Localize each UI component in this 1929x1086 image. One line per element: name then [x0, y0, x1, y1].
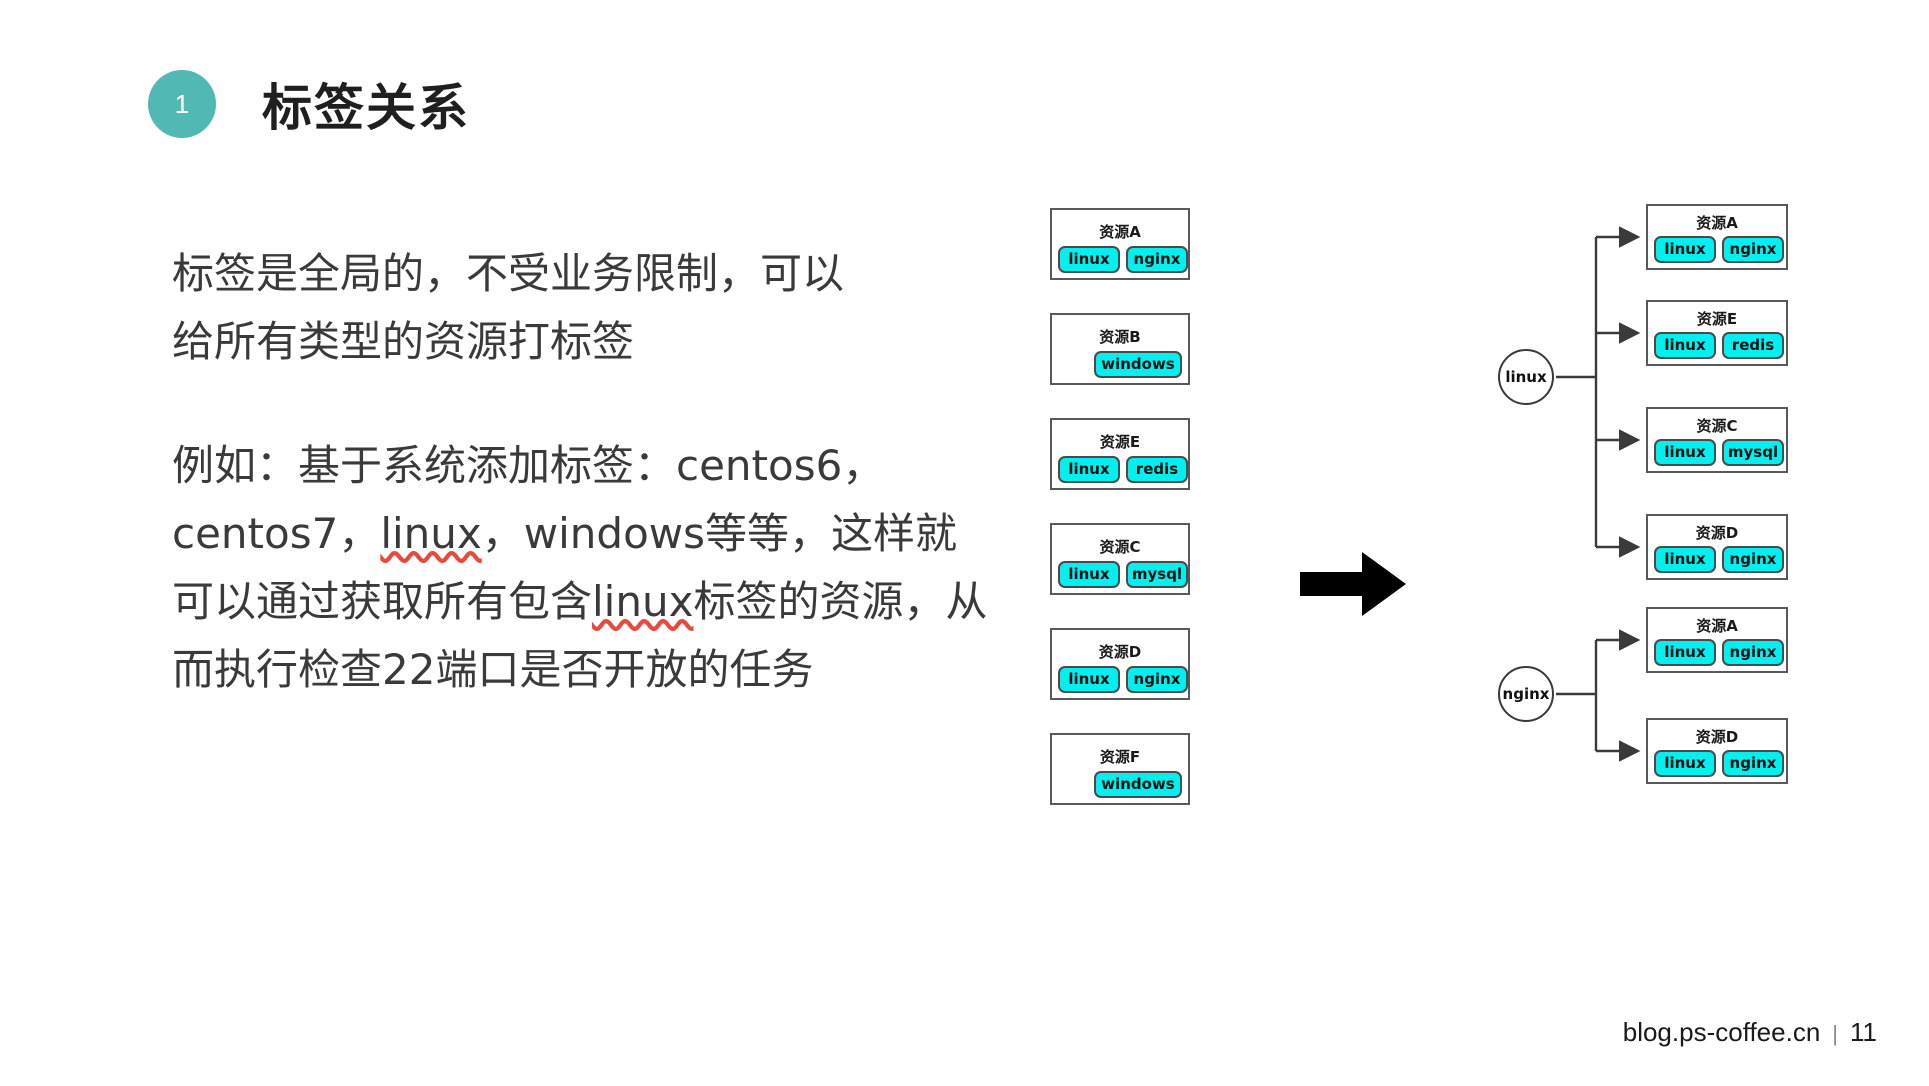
resource-card-title: 资源A	[1052, 225, 1188, 240]
tag-linux: linux	[1654, 332, 1716, 359]
tag-row: linux nginx	[1648, 236, 1786, 268]
tag-linux: linux	[1654, 750, 1716, 777]
spellcheck-word-linux-2: linux	[592, 577, 693, 626]
tag-redis: redis	[1722, 332, 1784, 359]
resource-card-d: 资源D linux nginx	[1050, 628, 1190, 700]
tag-nginx: nginx	[1722, 236, 1784, 263]
tag-node-nginx: nginx	[1498, 666, 1554, 722]
body-copy: 标签是全局的，不受业务限制，可以 给所有类型的资源打标签 例如：基于系统添加标签…	[172, 240, 992, 704]
tree-resource-card-d: 资源D linux nginx	[1646, 514, 1788, 580]
tag-linux: linux	[1058, 666, 1120, 693]
tree-resource-card-e: 资源E linux redis	[1646, 300, 1788, 366]
slide-header: 1 标签关系	[148, 68, 470, 140]
resource-card-title: 资源C	[1052, 540, 1188, 555]
tag-nginx: nginx	[1126, 666, 1188, 693]
tag-linux: linux	[1058, 561, 1120, 588]
tag-nginx: nginx	[1126, 246, 1188, 273]
tree-resource-card-a: 资源A linux nginx	[1646, 204, 1788, 270]
tag-row: windows	[1052, 351, 1188, 383]
tree-resource-card-c: 资源C linux mysql	[1646, 407, 1788, 473]
paragraph-1-line-1: 标签是全局的，不受业务限制，可以	[172, 240, 992, 308]
tag-nginx: nginx	[1722, 750, 1784, 777]
tag-row: linux redis	[1052, 456, 1188, 488]
slide-canvas: 1 标签关系 标签是全局的，不受业务限制，可以 给所有类型的资源打标签 例如：基…	[0, 0, 1929, 1086]
right-arrow-icon	[1300, 548, 1408, 625]
resource-card-f: 资源F windows	[1050, 733, 1190, 805]
tag-row: linux redis	[1648, 332, 1786, 364]
resource-card-a: 资源A linux nginx	[1050, 208, 1190, 280]
resource-card-e: 资源E linux redis	[1050, 418, 1190, 490]
tag-nginx: nginx	[1722, 639, 1784, 666]
resource-card-title: 资源B	[1052, 330, 1188, 345]
page-title: 标签关系	[262, 68, 470, 140]
tag-windows: windows	[1094, 351, 1182, 378]
resource-card-title: 资源C	[1648, 419, 1786, 434]
tag-row: linux nginx	[1052, 246, 1188, 278]
tag-mysql: mysql	[1722, 439, 1784, 466]
resource-card-title: 资源A	[1648, 619, 1786, 634]
tag-row: linux mysql	[1052, 561, 1188, 593]
resource-card-title: 资源F	[1052, 750, 1188, 765]
paragraph-spacer	[172, 376, 992, 432]
footer-separator: |	[1832, 1021, 1838, 1047]
tag-row: linux nginx	[1648, 639, 1786, 671]
tree-resource-card-d-2: 资源D linux nginx	[1646, 718, 1788, 784]
tree-resource-card-a-2: 资源A linux nginx	[1646, 607, 1788, 673]
tag-linux: linux	[1654, 639, 1716, 666]
slide-footer: blog.ps-coffee.cn | 11	[1623, 1017, 1877, 1048]
tag-linux: linux	[1058, 246, 1120, 273]
tag-redis: redis	[1126, 456, 1188, 483]
tag-node-label: nginx	[1503, 685, 1550, 703]
tag-row: linux nginx	[1648, 546, 1786, 578]
resource-card-title: 资源D	[1648, 526, 1786, 541]
resource-card-b: 资源B windows	[1050, 313, 1190, 385]
tag-linux: linux	[1654, 546, 1716, 573]
resource-card-title: 资源D	[1648, 730, 1786, 745]
resource-list-before: 资源A linux nginx 资源B windows 资源E linux re…	[1050, 208, 1190, 838]
tag-row: linux nginx	[1648, 750, 1786, 782]
tag-row: linux mysql	[1648, 439, 1786, 471]
resource-card-c: 资源C linux mysql	[1050, 523, 1190, 595]
tag-linux: linux	[1654, 439, 1716, 466]
tag-linux: linux	[1058, 456, 1120, 483]
tag-row: linux nginx	[1052, 666, 1188, 698]
section-number: 1	[175, 89, 189, 120]
tag-mysql: mysql	[1126, 561, 1188, 588]
resource-card-title: 资源E	[1648, 312, 1786, 327]
paragraph-2: 例如：基于系统添加标签：centos6，centos7，linux，window…	[172, 432, 992, 704]
tag-linux: linux	[1654, 236, 1716, 263]
tag-windows: windows	[1094, 771, 1182, 798]
resource-card-title: 资源D	[1052, 645, 1188, 660]
spellcheck-word-linux-1: linux	[380, 509, 481, 558]
tag-nginx: nginx	[1722, 546, 1784, 573]
tag-node-label: linux	[1505, 368, 1546, 386]
resource-card-title: 资源A	[1648, 216, 1786, 231]
tag-node-linux: linux	[1498, 349, 1554, 405]
tag-group-tree: linux 资源A linux nginx 资源E linux redis 资源…	[1498, 220, 1918, 960]
page-number: 11	[1850, 1017, 1877, 1048]
resource-card-title: 资源E	[1052, 435, 1188, 450]
paragraph-1-line-2: 给所有类型的资源打标签	[172, 308, 992, 376]
tag-row: windows	[1052, 771, 1188, 803]
section-number-badge: 1	[148, 70, 216, 138]
footer-site: blog.ps-coffee.cn	[1623, 1017, 1821, 1048]
